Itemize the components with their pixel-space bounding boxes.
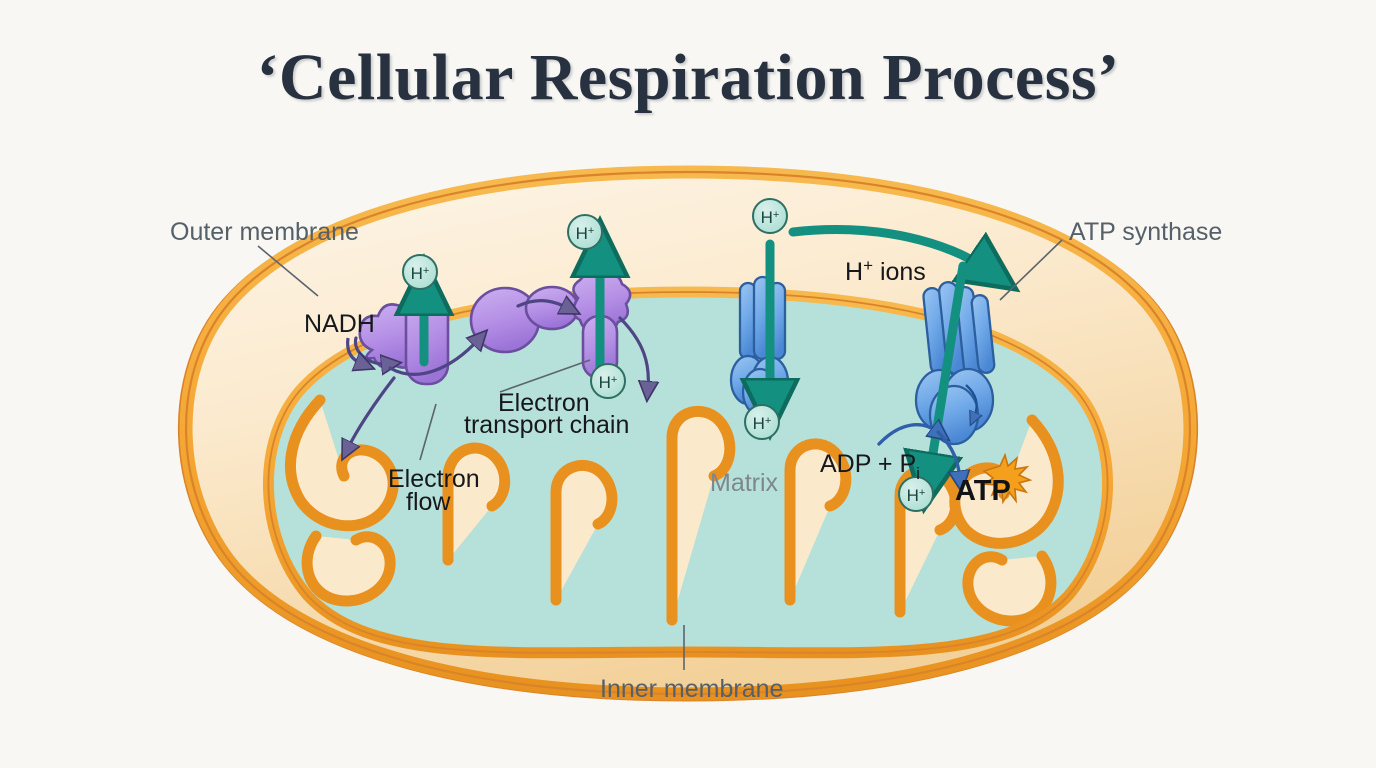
label-electron-flow-line2: flow xyxy=(406,488,451,516)
label-electron-transport-chain-line2: transport chain xyxy=(464,411,629,439)
label-outer-membrane: Outer membrane xyxy=(170,218,359,246)
label-inner-membrane: Inner membrane xyxy=(600,675,783,703)
mitochondrion-illustration: H+ H+ H+ H+ H+ H+ xyxy=(0,0,1376,768)
label-matrix: Matrix xyxy=(710,469,779,497)
proton-marker: H+ xyxy=(591,364,625,398)
diagram-canvas: ‘Cellular Respiration Process’ xyxy=(0,0,1376,768)
label-nadh: NADH xyxy=(304,310,375,338)
channel-protein-middle[interactable] xyxy=(731,277,788,415)
proton-marker: H+ xyxy=(403,255,437,289)
proton-marker: H+ xyxy=(568,215,602,249)
label-atp-synthase: ATP synthase xyxy=(1069,218,1222,246)
complex-IV xyxy=(526,287,578,329)
proton-marker: H+ xyxy=(745,405,779,439)
proton-marker: H+ xyxy=(753,199,787,233)
label-h-ions: H+ ions xyxy=(845,256,926,286)
label-atp: ATP xyxy=(955,475,1011,507)
